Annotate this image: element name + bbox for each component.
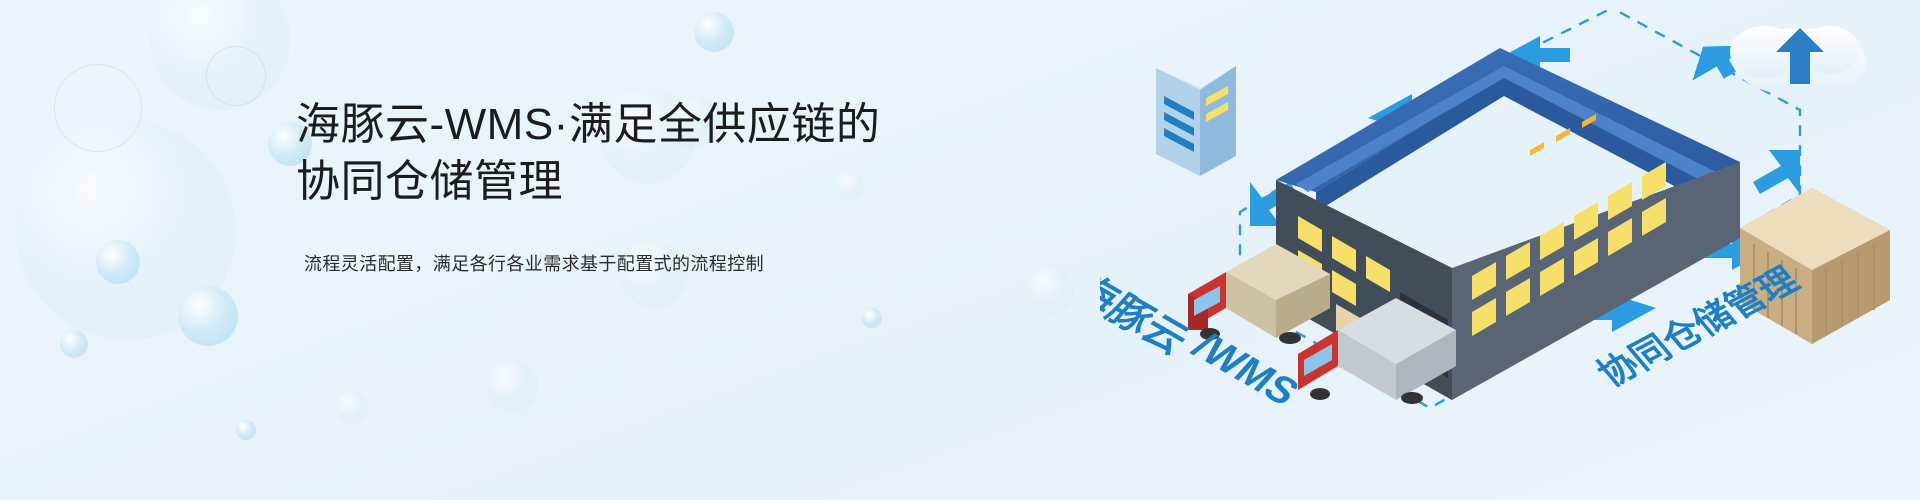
bubble-3 — [60, 330, 88, 358]
cloud-upload-icon — [1730, 26, 1866, 96]
bubble-1 — [150, 0, 290, 110]
hero-copy: 海豚云-WMS·满足全供应链的 协同仓储管理 流程灵活配置，满足各行各业需求基于… — [296, 96, 936, 276]
bubble-8 — [486, 360, 538, 412]
bubble-2 — [96, 240, 140, 284]
bubble-4 — [178, 286, 238, 346]
headline-line-2: 协同仓储管理 — [296, 153, 936, 210]
server-rack-icon — [1156, 46, 1236, 176]
bubble-7 — [336, 392, 368, 424]
iso-label-left-text: 海豚云 — [1100, 267, 1198, 362]
bubble-17 — [206, 46, 266, 106]
hero-banner: 海豚云-WMS·满足全供应链的 协同仓储管理 流程灵活配置，满足各行各业需求基于… — [0, 0, 1920, 500]
warehouse-illustration: 海豚云 /WMS 协同仓储管理 — [1100, 0, 1920, 500]
bubble-6 — [236, 420, 256, 440]
headline-line-1: 海豚云-WMS·满足全供应链的 — [296, 100, 880, 149]
shipping-container — [1740, 188, 1890, 344]
bubble-9 — [694, 12, 734, 52]
page-title: 海豚云-WMS·满足全供应链的 协同仓储管理 — [296, 96, 936, 210]
bubble-15 — [1026, 266, 1074, 314]
bubble-14 — [862, 308, 882, 328]
hero-subtitle: 流程灵活配置，满足各行各业需求基于配置式的流程控制 — [304, 250, 936, 276]
bubble-0 — [16, 120, 236, 340]
bubble-16 — [54, 64, 142, 152]
